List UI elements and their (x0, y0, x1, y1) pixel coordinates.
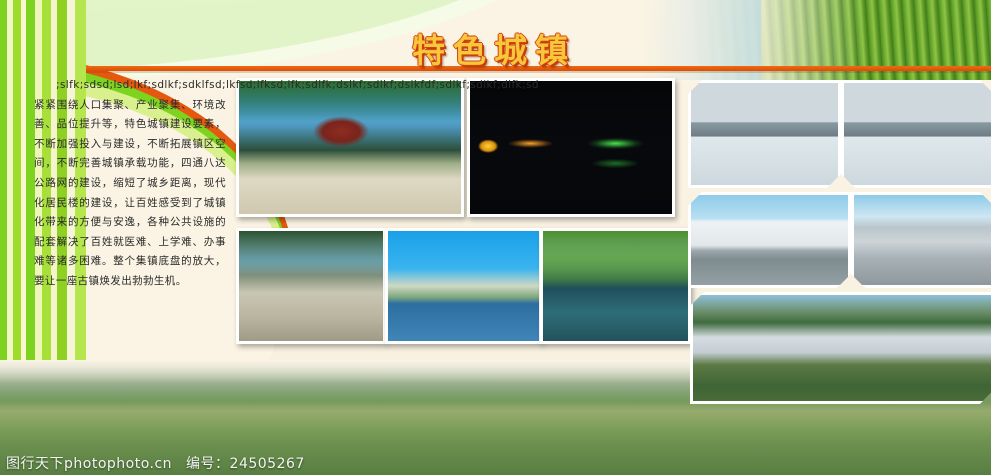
photo-winter-right-image (844, 83, 991, 185)
photo-night-waterfront-image (470, 81, 672, 214)
watermark-site: 图行天下photophoto.cn (6, 453, 172, 473)
photo-winter-left (688, 80, 841, 188)
photo-white-building (688, 192, 851, 288)
photo-winter-left-image (691, 83, 838, 185)
photo-new-town-image (693, 295, 991, 401)
photo-night-waterfront (467, 78, 675, 217)
page-title: 特色城镇 (412, 24, 576, 72)
photo-stone-bridge-image (239, 231, 383, 341)
watermark-number: 编号：24505267 (186, 453, 305, 473)
photo-stone-bridge (236, 228, 386, 344)
photo-willow-lake-image (543, 231, 688, 341)
photo-winter-right (841, 80, 991, 188)
photo-pavilion-lake-image (239, 81, 461, 214)
watermark-bar: 图行天下photophoto.cn 编号：24505267 (0, 450, 991, 475)
photo-arch-bridge (385, 228, 542, 344)
body-copy: ;slfk;sdsd;lsd;lkf;sdlkf;sdklfsd;lkfsd;l… (34, 76, 226, 292)
photo-new-town (690, 292, 991, 404)
photo-commercial-street-image (854, 195, 991, 285)
poster-canvas: 特色城镇 ;slfk;sdsd;lsd;lkf;sdlkf;sdklfsd;lk… (0, 0, 991, 475)
photo-white-building-image (691, 195, 848, 285)
photo-arch-bridge-image (388, 231, 539, 341)
photo-pavilion-lake (236, 78, 464, 217)
photo-willow-lake (540, 228, 691, 344)
photo-commercial-street (851, 192, 991, 288)
